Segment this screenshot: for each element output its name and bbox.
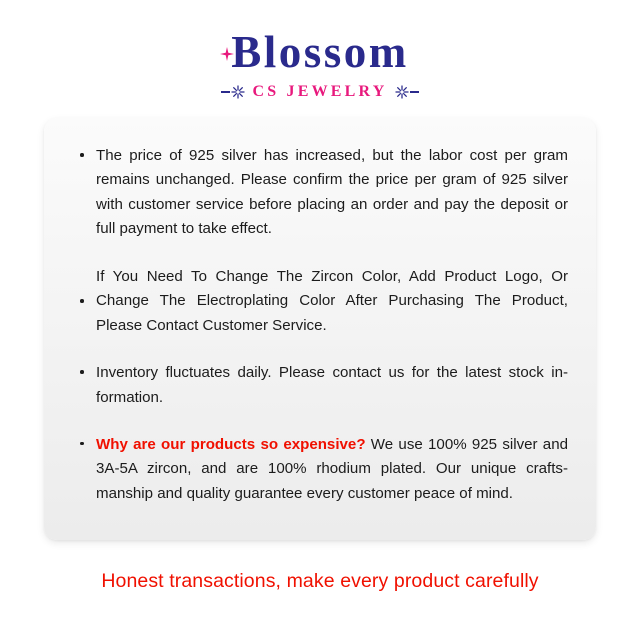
footer-slogan: Honest transactions, make every product …: [0, 570, 640, 593]
brand-tagline-row: CS JEWELRY: [0, 84, 640, 100]
list-item: Why are our products so expensive? We us…: [74, 433, 568, 506]
sparkle-diamond-icon: [220, 47, 234, 61]
ornament-dash-left: [221, 91, 230, 93]
snowflake-ornament-icon-right: [395, 85, 419, 99]
brand-wordmark: Blossom: [231, 30, 409, 75]
snowflake-ornament-icon-left: [221, 85, 245, 99]
list-item: Inventory fluctuates daily. Please conta…: [74, 361, 568, 410]
brand-header: Blossom CS JEWELRY: [0, 30, 640, 100]
bullet-marker-icon: [80, 299, 84, 303]
bullet-marker-icon: [80, 442, 84, 446]
notice-bullet-list: The price of 925 silver has increased, b…: [74, 144, 568, 506]
ornament-dash-right: [410, 91, 419, 93]
notice-text: If You Need To Change The Zircon Color, …: [96, 268, 568, 334]
list-item: The price of 925 silver has increased, b…: [74, 144, 568, 242]
bullet-marker-icon: [80, 370, 84, 374]
bullet-marker-icon: [80, 153, 84, 157]
notice-text: The price of 925 silver has increased, b…: [96, 147, 568, 237]
list-item: If You Need To Change The Zircon Color, …: [74, 265, 568, 338]
notice-text: Inventory fluctuates daily. Please conta…: [96, 364, 568, 405]
notice-card: The price of 925 silver has increased, b…: [44, 118, 596, 540]
notice-highlight: Why are our products so expensive?: [96, 436, 366, 453]
brand-tagline: CS JEWELRY: [252, 84, 387, 100]
brand-name: Blossom: [231, 30, 409, 75]
